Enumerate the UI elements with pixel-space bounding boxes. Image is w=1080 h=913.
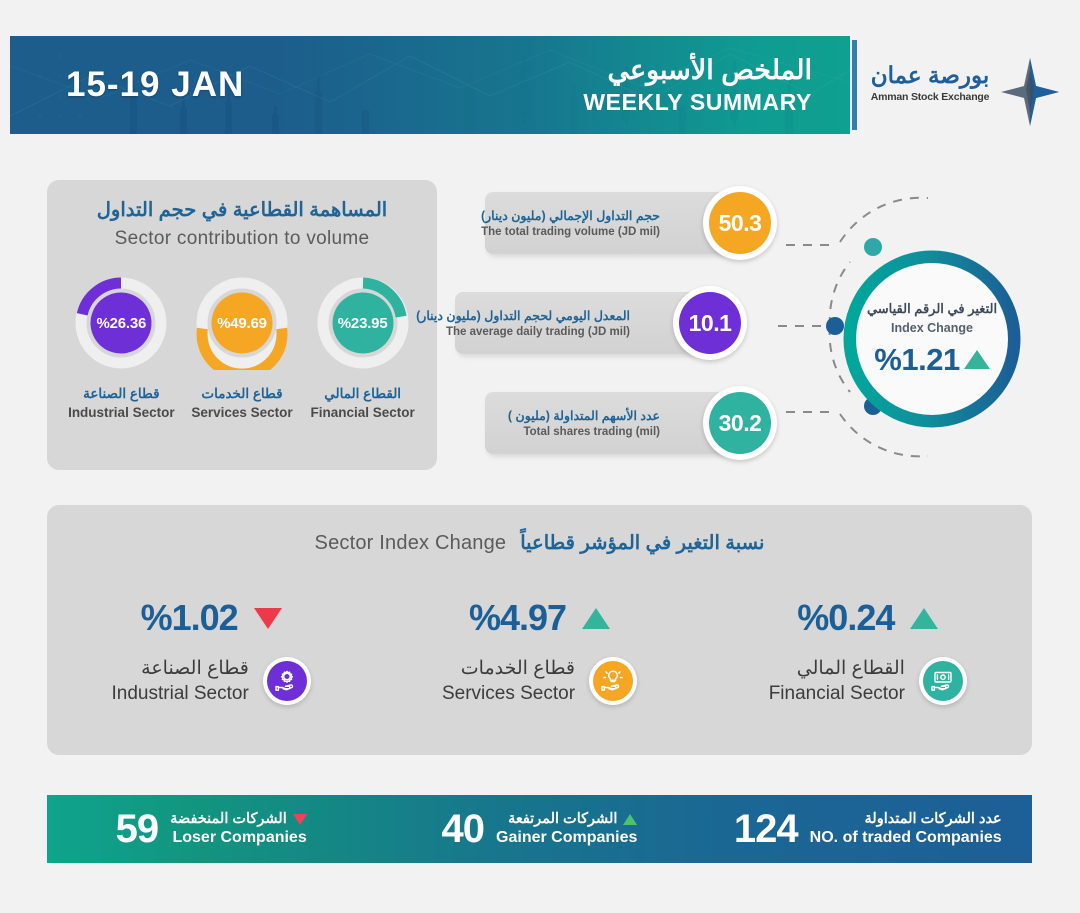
hand-gear-icon	[267, 661, 307, 701]
donut-industrial: %26.36 قطاع الصناعة Industrial Sector	[63, 276, 179, 420]
sector-label-english: Financial Sector	[769, 683, 905, 705]
sector-index-row: %1.02 قطاع الصناعة Industrial Sector	[47, 597, 1032, 705]
donut-label-industrial: قطاع الصناعة Industrial Sector	[63, 386, 179, 420]
loser-count: 59	[116, 807, 159, 852]
metric-label-arabic: حجم التداول الإجمالي (مليون دينار)	[481, 208, 660, 223]
hand-gear-glyph	[274, 668, 300, 694]
sector-label-english: Industrial Sector	[112, 683, 249, 705]
loser-label-english: Loser Companies	[170, 829, 307, 847]
arrow-up-icon	[964, 350, 990, 369]
sector-volume-panel: المساهمة القطاعية في حجم التداول Sector …	[47, 180, 437, 470]
logo-text-block: بورصة عمان Amman Stock Exchange	[866, 62, 994, 103]
header-title-english: WEEKLY SUMMARY	[583, 88, 812, 117]
hand-money-icon	[923, 661, 963, 701]
sector-volume-title-arabic: المساهمة القطاعية في حجم التداول	[47, 198, 437, 222]
arrow-down-icon	[254, 608, 282, 629]
header-accent-bar	[852, 40, 857, 130]
index-change-value: %1.21	[874, 342, 959, 378]
sector-index-services: %4.97 قطاع الخدمات Services Sector	[375, 597, 703, 705]
index-change-inner: التغير في الرقم القياسي Index Change %1.…	[856, 263, 1008, 415]
donut-financial: %23.95 القطاع المالي Financial Sector	[305, 276, 421, 420]
sector-label-block: القطاع المالي Financial Sector	[704, 657, 1032, 705]
sector-value-row: %1.02	[47, 597, 375, 639]
metric-bubble-total-shares: 30.2	[703, 386, 777, 460]
arrow-down-icon	[293, 814, 307, 825]
sector-value-row: %4.97	[375, 597, 703, 639]
metric-pill-total-volume: حجم التداول الإجمالي (مليون دينار) The t…	[485, 192, 730, 254]
gainer-label-english: Gainer Companies	[496, 829, 637, 847]
header-date-range: 15-19 JAN	[66, 65, 244, 105]
metric-label-english: The average daily trading (JD mil)	[446, 326, 630, 338]
hand-bulb-icon	[593, 661, 633, 701]
metric-pill-avg-daily: المعدل اليومي لحجم التداول (مليون دينار)…	[455, 292, 700, 354]
sector-label-arabic: القطاع المالي	[769, 657, 905, 680]
ase-star-icon	[999, 56, 1061, 128]
arrow-up-icon	[582, 608, 610, 629]
companies-traded: 124 عدد الشركات المتداولة NO. of traded …	[704, 795, 1032, 863]
index-change-value-row: %1.21	[874, 342, 989, 378]
hand-money-glyph	[930, 668, 956, 694]
companies-loser: 59 الشركات المنخفضة Loser Companies	[47, 795, 375, 863]
donut-chart: %23.95	[316, 276, 410, 370]
sector-index-industrial: %1.02 قطاع الصناعة Industrial Sector	[47, 597, 375, 705]
index-change-circle: التغير في الرقم القياسي Index Change %1.…	[843, 250, 1021, 428]
donut-chart: %26.36	[74, 276, 168, 370]
companies-gainer: 40 الشركات المرتفعة Gainer Companies	[375, 795, 703, 863]
hand-money-icon-badge	[919, 657, 967, 705]
sector-index-change-title: Sector Index Change نسبة التغير في المؤش…	[47, 505, 1032, 555]
sector-index-change-panel: Sector Index Change نسبة التغير في المؤش…	[47, 505, 1032, 755]
sector-index-title-english: Sector Index Change	[315, 532, 507, 555]
metric-bubble-total-volume: 50.3	[703, 186, 777, 260]
sector-label-block: قطاع الخدمات Services Sector	[375, 657, 703, 705]
traded-label-english: NO. of traded Companies	[810, 829, 1002, 847]
infographic-page: 15-19 JAN الملخص الأسبوعي WEEKLY SUMMARY…	[0, 0, 1080, 913]
sector-volume-title-english: Sector contribution to volume	[47, 228, 437, 250]
gainer-count: 40	[442, 807, 485, 852]
traded-arabic-row: عدد الشركات المتداولة	[810, 811, 1002, 827]
hand-bulb-glyph	[600, 668, 626, 694]
sector-label-english: Services Sector	[442, 683, 575, 705]
sector-labels: قطاع الخدمات Services Sector	[442, 657, 575, 705]
logo-name-arabic: بورصة عمان	[866, 62, 994, 89]
donut-label-services: قطاع الخدمات Services Sector	[184, 386, 300, 420]
header-title-block: الملخص الأسبوعي WEEKLY SUMMARY	[583, 54, 812, 117]
sector-index-value-services: %4.97	[469, 597, 566, 639]
donut-label-english: Financial Sector	[305, 405, 421, 420]
arrow-up-icon	[623, 814, 637, 825]
donut-value-services: %49.69	[195, 276, 289, 370]
index-change-label-arabic: التغير في الرقم القياسي	[867, 301, 997, 317]
gainer-labels: الشركات المرتفعة Gainer Companies	[496, 811, 637, 847]
sector-index-title-arabic: نسبة التغير في المؤشر قطاعياً	[520, 531, 764, 555]
metric-label-english: The total trading volume (JD mil)	[481, 226, 660, 238]
sector-label-block: قطاع الصناعة Industrial Sector	[47, 657, 375, 705]
traded-label-arabic: عدد الشركات المتداولة	[865, 811, 1002, 827]
sector-label-arabic: قطاع الخدمات	[442, 657, 575, 680]
metric-value-total-volume: 50.3	[709, 192, 771, 254]
metric-label-english: Total shares trading (mil)	[523, 426, 660, 438]
header-title-arabic: الملخص الأسبوعي	[583, 54, 812, 88]
metric-label-arabic: المعدل اليومي لحجم التداول (مليون دينار)	[416, 308, 630, 323]
sector-label-arabic: قطاع الصناعة	[112, 657, 249, 680]
metrics-group: حجم التداول الإجمالي (مليون دينار) The t…	[455, 180, 875, 470]
loser-arabic-row: الشركات المنخفضة	[170, 811, 307, 827]
metric-label-arabic: عدد الأسهم المتداولة (مليون )	[508, 408, 660, 423]
donut-label-english: Industrial Sector	[63, 405, 179, 420]
sector-value-row: %0.24	[704, 597, 1032, 639]
logo-name-english: Amman Stock Exchange	[866, 91, 994, 103]
traded-labels: عدد الشركات المتداولة NO. of traded Comp…	[810, 811, 1002, 847]
metric-pill-total-shares: عدد الأسهم المتداولة (مليون ) Total shar…	[485, 392, 730, 454]
donut-label-english: Services Sector	[184, 405, 300, 420]
index-change-label-english: Index Change	[891, 321, 973, 335]
companies-summary-bar: 59 الشركات المنخفضة Loser Companies 40 ا…	[47, 795, 1032, 863]
sector-labels: القطاع المالي Financial Sector	[769, 657, 905, 705]
loser-labels: الشركات المنخفضة Loser Companies	[170, 811, 307, 847]
ase-logo: بورصة عمان Amman Stock Exchange	[866, 58, 1066, 128]
metric-value-avg-daily: 10.1	[679, 292, 741, 354]
sector-index-value-industrial: %1.02	[141, 597, 238, 639]
header-banner: 15-19 JAN الملخص الأسبوعي WEEKLY SUMMARY	[10, 36, 850, 134]
donut-row: %26.36 قطاع الصناعة Industrial Sector %4…	[47, 276, 437, 420]
sector-index-value-financial: %0.24	[797, 597, 894, 639]
donut-label-arabic: قطاع الصناعة	[63, 386, 179, 402]
hand-gear-icon-badge	[263, 657, 311, 705]
metric-value-total-shares: 30.2	[709, 392, 771, 454]
sector-labels: قطاع الصناعة Industrial Sector	[112, 657, 249, 705]
donut-chart: %49.69	[195, 276, 289, 370]
metric-bubble-avg-daily: 10.1	[673, 286, 747, 360]
gainer-label-arabic: الشركات المرتفعة	[508, 811, 617, 827]
arrow-up-icon	[910, 608, 938, 629]
sector-index-financial: %0.24 القطاع المالي Financial Sector	[704, 597, 1032, 705]
loser-label-arabic: الشركات المنخفضة	[170, 811, 287, 827]
gainer-arabic-row: الشركات المرتفعة	[496, 811, 637, 827]
donut-label-arabic: قطاع الخدمات	[184, 386, 300, 402]
sector-volume-title: المساهمة القطاعية في حجم التداول Sector …	[47, 180, 437, 250]
donut-value-industrial: %26.36	[74, 276, 168, 370]
donut-services: %49.69 قطاع الخدمات Services Sector	[184, 276, 300, 420]
donut-label-arabic: القطاع المالي	[305, 386, 421, 402]
donut-label-financial: القطاع المالي Financial Sector	[305, 386, 421, 420]
traded-count: 124	[734, 807, 798, 852]
donut-value-financial: %23.95	[316, 276, 410, 370]
hand-bulb-icon-badge	[589, 657, 637, 705]
